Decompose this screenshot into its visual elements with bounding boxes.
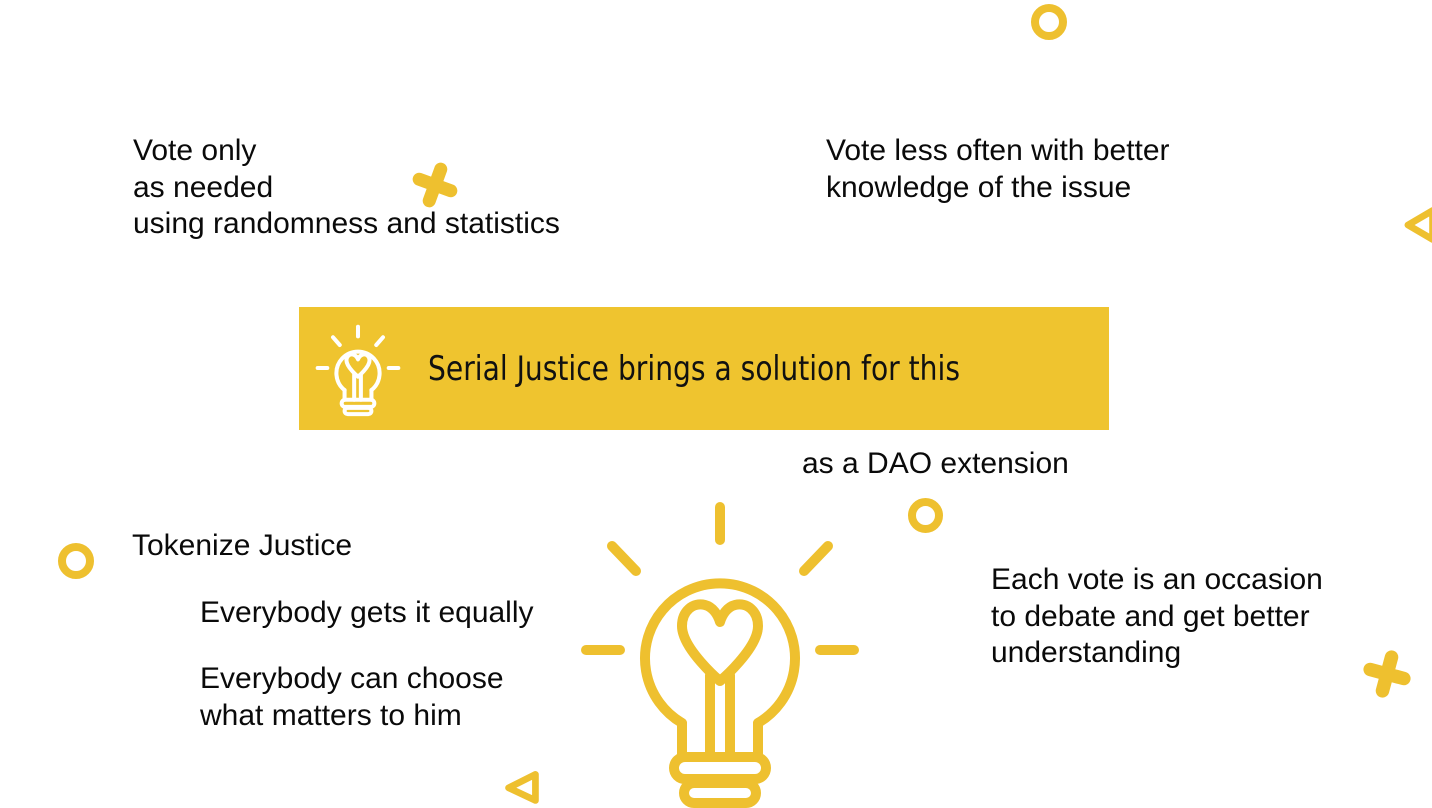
slide-canvas: Vote only as needed using randomness and… (0, 0, 1432, 808)
cross-decoration-bottom (1358, 645, 1416, 703)
text-everybody-can-choose: Everybody can choose what matters to him (200, 661, 504, 734)
text-vote-less-often: Vote less often with better knowledge of… (826, 133, 1170, 206)
ring-decoration-top (1031, 4, 1067, 40)
lightbulb-heart-icon (310, 321, 406, 417)
text-each-vote-occasion: Each vote is an occasion to debate and g… (991, 562, 1323, 672)
text-vote-only: Vote only as needed using randomness and… (133, 133, 560, 243)
ring-decoration-middle (908, 498, 943, 533)
triangle-decoration-bottom (501, 766, 543, 808)
lightbulb-heart-illustration (570, 495, 870, 808)
text-everybody-gets-it-equally: Everybody gets it equally (200, 595, 534, 632)
triangle-decoration-right (1402, 203, 1432, 247)
banner-serial-justice: Serial Justice brings a solution for thi… (299, 307, 1109, 430)
text-tokenize-justice: Tokenize Justice (132, 528, 352, 565)
banner-label: Serial Justice brings a solution for thi… (428, 349, 960, 389)
text-dao-extension: as a DAO extension (802, 446, 1069, 483)
cross-decoration-top (407, 157, 463, 213)
ring-decoration-left (58, 543, 94, 579)
